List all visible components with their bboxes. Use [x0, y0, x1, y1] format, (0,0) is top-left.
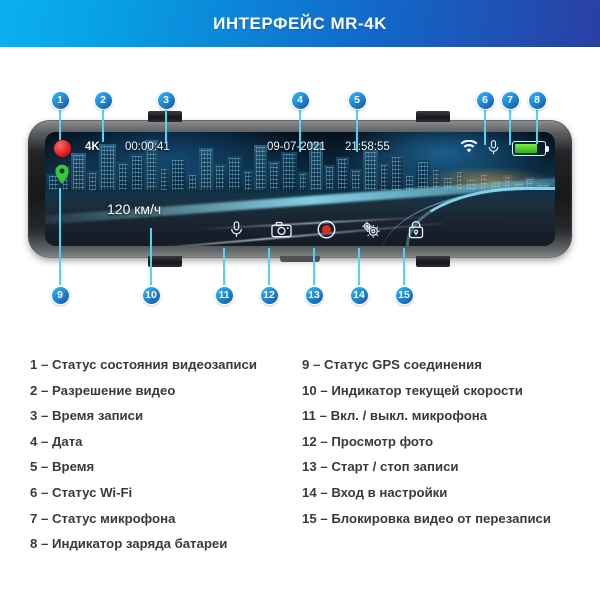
leader-line-8 [536, 110, 538, 144]
lock-video-button[interactable] [403, 216, 429, 242]
rec-dot-icon [54, 140, 71, 157]
gps-pin-icon [54, 164, 70, 184]
callout-badge-6: 6 [476, 91, 495, 110]
legend-item-left-5: 6 – Статус Wi-Fi [30, 480, 315, 506]
legend-column-left: 1 – Статус состояния видеозаписи2 – Разр… [30, 352, 315, 557]
date-label: 09-07-2021 [267, 141, 326, 153]
legend-item-right-3: 12 – Просмотр фото [302, 429, 592, 455]
wifi-icon [460, 140, 478, 159]
callout-badge-4: 4 [291, 91, 310, 110]
legend-item-left-6: 7 – Статус микрофона [30, 506, 315, 532]
legend-item-left-3: 4 – Дата [30, 429, 315, 455]
callout-badge-13: 13 [305, 286, 324, 305]
legend-item-right-0: 9 – Статус GPS соединения [302, 352, 592, 378]
time-label: 21:58:55 [345, 141, 390, 153]
leader-line-2 [102, 110, 104, 142]
mount-tab-bottom-right [416, 256, 450, 267]
leader-line-10 [150, 228, 152, 285]
microphone-icon [487, 140, 500, 160]
legend-column-right: 9 – Статус GPS соединения10 – Индикатор … [302, 352, 592, 531]
legend-item-right-6: 15 – Блокировка видео от перезаписи [302, 506, 592, 532]
mount-tab-top-right [416, 111, 450, 122]
callout-badge-3: 3 [157, 91, 176, 110]
screen-toolbar [45, 214, 555, 242]
mic-toggle-button[interactable] [223, 216, 249, 242]
settings-button[interactable] [358, 216, 384, 242]
legend-item-right-2: 11 – Вкл. / выкл. микрофона [302, 403, 592, 429]
legend-item-right-1: 10 – Индикатор текущей скорости [302, 378, 592, 404]
legend-item-left-4: 5 – Время [30, 454, 315, 480]
battery-icon [512, 141, 546, 156]
callout-badge-8: 8 [528, 91, 547, 110]
leader-line-12 [268, 248, 270, 285]
mount-tab-bottom-left [148, 256, 182, 267]
callout-badge-12: 12 [260, 286, 279, 305]
resolution-label: 4K [85, 141, 100, 153]
legend-item-left-7: 8 – Индикатор заряда батареи [30, 531, 315, 557]
callout-badge-11: 11 [215, 286, 234, 305]
record-button[interactable] [313, 216, 339, 242]
legend-item-left-2: 3 – Время записи [30, 403, 315, 429]
leader-line-9 [59, 188, 61, 285]
leader-line-13 [313, 248, 315, 285]
device-illustration: 4K 00:00:41 09-07-2021 21:58:55 [0, 47, 600, 317]
leader-line-1 [59, 110, 61, 140]
legend-item-right-5: 14 – Вход в настройки [302, 480, 592, 506]
callout-badge-14: 14 [350, 286, 369, 305]
callout-badge-2: 2 [94, 91, 113, 110]
leader-line-11 [223, 248, 225, 285]
callout-badge-10: 10 [142, 286, 161, 305]
leader-line-4 [299, 110, 301, 152]
callout-badge-1: 1 [51, 91, 70, 110]
page-header: ИНТЕРФЕЙС MR-4K [0, 0, 600, 47]
callout-badge-7: 7 [501, 91, 520, 110]
leader-line-7 [509, 110, 511, 145]
legend-item-right-4: 13 – Старт / стоп записи [302, 454, 592, 480]
callout-badge-9: 9 [51, 286, 70, 305]
page-title: ИНТЕРФЕЙС MR-4K [213, 14, 387, 34]
leader-line-5 [356, 110, 358, 152]
photo-gallery-button[interactable] [268, 216, 294, 242]
leader-line-15 [403, 248, 405, 285]
legend-item-left-0: 1 – Статус состояния видеозаписи [30, 352, 315, 378]
leader-line-6 [484, 110, 486, 145]
leader-line-14 [358, 248, 360, 285]
legend-item-left-1: 2 – Разрешение видео [30, 378, 315, 404]
callout-badge-5: 5 [348, 91, 367, 110]
callout-badge-15: 15 [395, 286, 414, 305]
recording-duration: 00:00:41 [125, 141, 170, 153]
leader-line-3 [165, 110, 167, 142]
legend: 1 – Статус состояния видеозаписи2 – Разр… [0, 352, 600, 562]
